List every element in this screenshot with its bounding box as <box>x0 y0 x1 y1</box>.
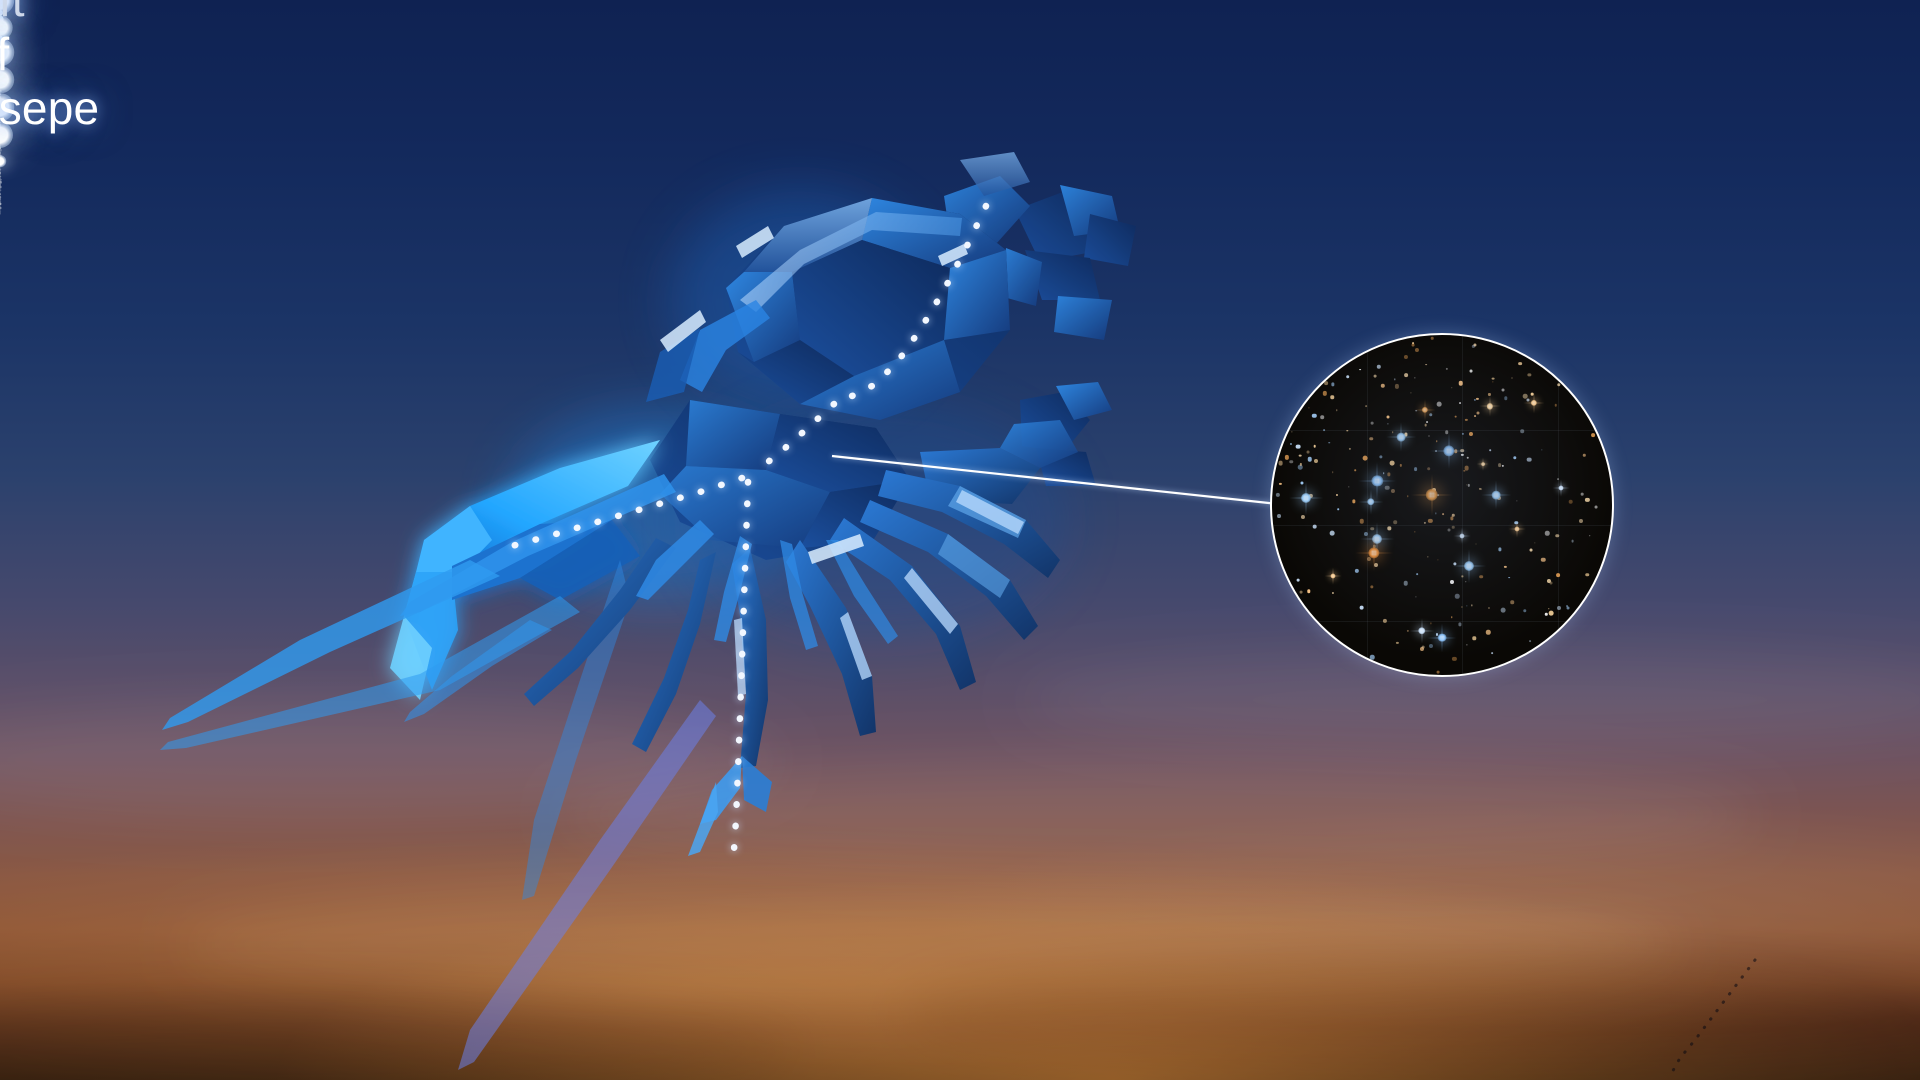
praesepe-eyepiece-circle[interactable] <box>1270 333 1614 677</box>
praesepe-inner-glow <box>1272 335 1612 675</box>
label-layer: KreeftAltarfPraesepe <box>0 0 199 162</box>
praesepe-inset[interactable] <box>1270 333 1614 677</box>
label-star-altarf: Altarf <box>0 27 99 81</box>
sky-scene: KreeftAltarfPraesepe <box>0 0 1920 1080</box>
faint-horizon-dotted-line <box>1670 960 1755 1076</box>
label-cluster-praesepe: Praesepe <box>0 81 99 135</box>
label-constellation: Kreeft <box>0 0 99 27</box>
constellation-figure-crab <box>0 0 1920 1080</box>
